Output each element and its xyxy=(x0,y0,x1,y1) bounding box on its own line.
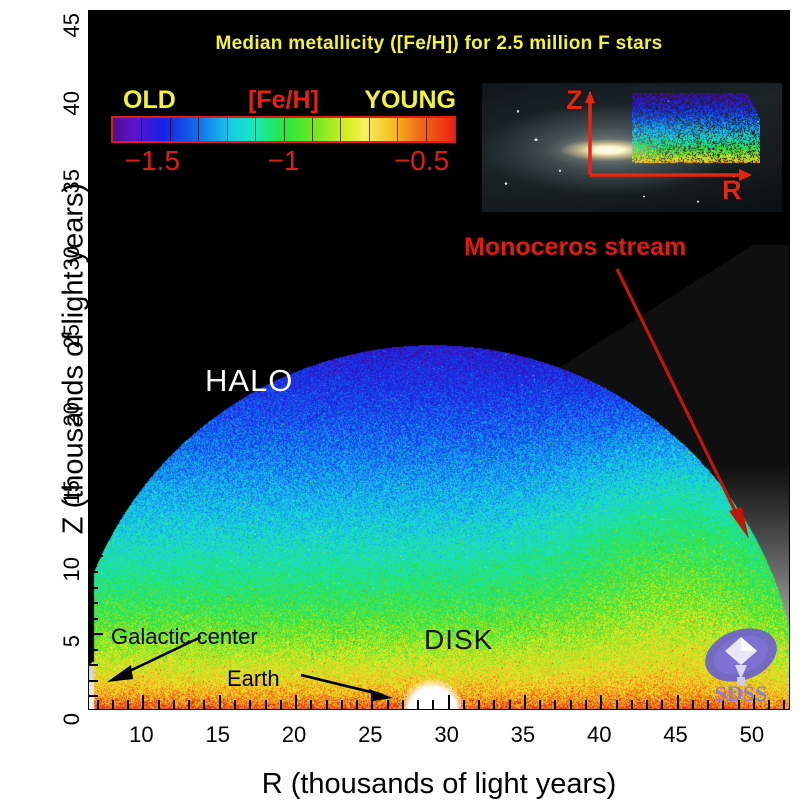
tick-mark xyxy=(585,700,587,709)
colorbar-tick: −1.5 xyxy=(125,145,180,177)
colorbar-tick: −1 xyxy=(268,145,300,177)
tick-mark xyxy=(89,11,103,13)
colorbar-divider xyxy=(227,118,228,141)
tick-mark xyxy=(493,700,495,709)
tick-mark xyxy=(89,540,98,542)
y-tick-20: 20 xyxy=(59,402,85,448)
colorbar-divider xyxy=(426,118,427,141)
x-tick-40: 40 xyxy=(569,722,629,748)
tick-mark xyxy=(478,700,480,709)
x-tick-45: 45 xyxy=(646,722,706,748)
tick-mark xyxy=(661,700,663,709)
tick-mark xyxy=(631,700,633,709)
x-tick-25: 25 xyxy=(340,722,400,748)
tick-mark xyxy=(89,400,103,402)
tick-mark xyxy=(89,135,98,137)
figure-title: Median metallicity ([Fe/H]) for 2.5 mill… xyxy=(89,33,789,55)
metallicity-figure: Z (thousands of light years) 05101520253… xyxy=(0,0,800,812)
tick-mark xyxy=(692,700,694,709)
tick-mark xyxy=(509,700,511,709)
tick-mark xyxy=(112,700,114,709)
tick-mark xyxy=(89,649,98,651)
earth-label: Earth xyxy=(227,666,280,692)
tick-mark xyxy=(89,369,98,371)
tick-mark xyxy=(280,700,282,709)
tick-mark xyxy=(89,415,98,417)
colorbar-young-label: YOUNG xyxy=(364,86,456,115)
colorbar-tick-labels: −1.5−1−0.5 xyxy=(111,143,456,177)
tick-mark xyxy=(432,700,434,709)
tick-mark xyxy=(89,493,98,495)
halo-label: HALO xyxy=(205,363,293,399)
tick-mark xyxy=(89,431,98,433)
inset-z-label: Z xyxy=(566,85,583,116)
y-tick-0: 0 xyxy=(59,713,85,759)
tick-mark xyxy=(89,167,103,169)
tick-mark xyxy=(89,602,98,604)
tick-mark xyxy=(310,700,312,709)
tick-mark xyxy=(89,353,98,355)
tick-mark xyxy=(89,213,98,215)
tick-mark xyxy=(89,291,98,293)
tick-mark xyxy=(89,120,98,122)
tick-mark xyxy=(463,700,465,709)
colorbar-divider xyxy=(369,118,370,141)
tick-mark xyxy=(89,509,98,511)
tick-mark xyxy=(89,633,103,635)
sdss-logo: SDSS xyxy=(701,619,781,705)
tick-mark xyxy=(89,260,98,262)
tick-mark xyxy=(554,700,556,709)
tick-mark xyxy=(600,695,602,709)
tick-mark xyxy=(677,695,679,709)
tick-mark xyxy=(142,695,144,709)
colorbar-divider xyxy=(312,118,313,141)
tick-mark xyxy=(524,695,526,709)
tick-mark xyxy=(234,700,236,709)
tick-mark xyxy=(341,700,343,709)
tick-mark xyxy=(539,700,541,709)
tick-mark xyxy=(295,695,297,709)
tick-mark xyxy=(89,73,98,75)
tick-mark xyxy=(387,700,389,709)
x-tick-10: 10 xyxy=(111,722,171,748)
tick-mark xyxy=(646,700,648,709)
colorbar-divider xyxy=(397,118,398,141)
tick-mark xyxy=(89,695,98,697)
tick-mark xyxy=(326,700,328,709)
tick-mark xyxy=(127,700,129,709)
tick-mark xyxy=(89,447,98,449)
tick-mark xyxy=(97,700,99,709)
tick-mark xyxy=(89,322,103,324)
x-tick-20: 20 xyxy=(264,722,324,748)
colorbar-legend: OLD [Fe/H] YOUNG −1.5−1−0.5 xyxy=(111,86,456,177)
tick-mark xyxy=(89,151,98,153)
tick-mark xyxy=(448,695,450,709)
tick-mark xyxy=(89,182,98,184)
plot-area: Median metallicity ([Fe/H]) for 2.5 mill… xyxy=(88,10,790,710)
colorbar-divider xyxy=(198,118,199,141)
disk-label: DISK xyxy=(424,624,493,656)
colorbar-labels: OLD [Fe/H] YOUNG xyxy=(111,86,456,116)
tick-mark xyxy=(89,198,98,200)
tick-mark xyxy=(783,700,785,709)
tick-mark xyxy=(249,700,251,709)
tick-mark xyxy=(570,700,572,709)
x-tick-15: 15 xyxy=(188,722,248,748)
tick-mark xyxy=(173,700,175,709)
tick-mark xyxy=(89,307,98,309)
tick-mark xyxy=(356,700,358,709)
y-tick-10: 10 xyxy=(59,557,85,603)
x-axis-title: R (thousands of light years) xyxy=(88,768,790,801)
tick-mark xyxy=(89,338,98,340)
tick-mark xyxy=(89,229,98,231)
galaxy-inset: Z R xyxy=(482,83,782,212)
y-tick-35: 35 xyxy=(59,169,85,215)
tick-mark xyxy=(188,700,190,709)
colorbar-divider xyxy=(170,118,171,141)
sdss-logo-text: SDSS xyxy=(715,681,768,705)
tick-mark xyxy=(89,664,98,666)
tick-mark xyxy=(89,58,98,60)
tick-mark xyxy=(89,478,103,480)
colorbar-divider xyxy=(340,118,341,141)
tick-mark xyxy=(89,462,98,464)
tick-mark xyxy=(371,695,373,709)
colorbar-divider xyxy=(284,118,285,141)
tick-mark xyxy=(265,700,267,709)
colorbar-old-label: OLD xyxy=(123,86,176,115)
tick-mark xyxy=(89,524,98,526)
inset-r-label: R xyxy=(722,175,742,206)
tick-mark xyxy=(89,104,98,106)
colorbar-divider xyxy=(141,118,142,141)
y-tick-30: 30 xyxy=(59,246,85,292)
x-tick-50: 50 xyxy=(722,722,782,748)
tick-mark xyxy=(219,695,221,709)
colorbar-gradient xyxy=(111,116,456,143)
y-tick-45: 45 xyxy=(59,13,85,59)
x-tick-35: 35 xyxy=(493,722,553,748)
y-tick-40: 40 xyxy=(59,91,85,137)
tick-mark xyxy=(158,700,160,709)
colorbar-tick: −0.5 xyxy=(394,145,449,177)
tick-mark xyxy=(89,571,98,573)
tick-mark xyxy=(89,384,98,386)
tick-mark xyxy=(417,700,419,709)
y-tick-25: 25 xyxy=(59,324,85,370)
tick-mark xyxy=(203,700,205,709)
colorbar-divider xyxy=(255,118,256,141)
tick-mark xyxy=(89,89,103,91)
x-tick-30: 30 xyxy=(417,722,477,748)
monoceros-stream-label: Monoceros stream xyxy=(464,233,686,262)
tick-mark xyxy=(89,275,98,277)
tick-mark xyxy=(89,618,98,620)
colorbar-quantity-label: [Fe/H] xyxy=(248,86,319,115)
y-tick-15: 15 xyxy=(59,480,85,526)
tick-mark xyxy=(89,555,103,557)
tick-mark xyxy=(616,700,618,709)
tick-mark xyxy=(402,700,404,709)
tick-mark xyxy=(89,587,98,589)
y-tick-5: 5 xyxy=(59,635,85,681)
tick-mark xyxy=(89,680,98,682)
tick-mark xyxy=(89,27,98,29)
galactic-center-label: Galactic center xyxy=(111,624,258,650)
tick-mark xyxy=(89,244,103,246)
